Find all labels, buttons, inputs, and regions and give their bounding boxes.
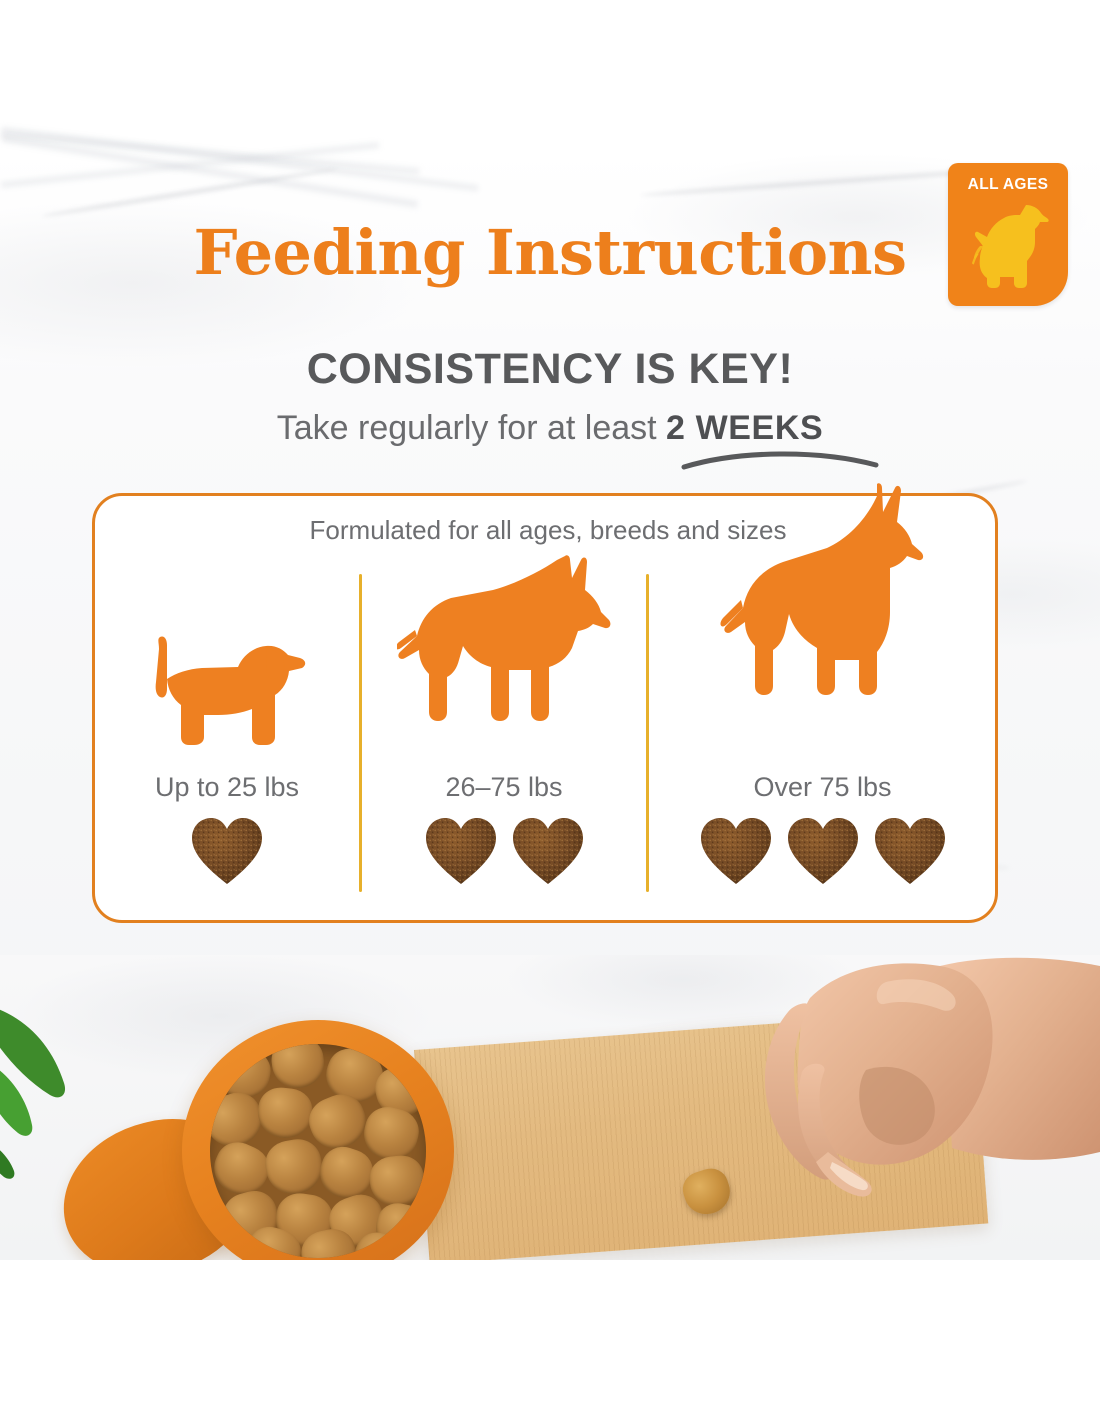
subtitle: CONSISTENCY IS KEY! (0, 348, 1100, 391)
medium-dog-icon (397, 552, 612, 730)
tagline-highlight: 2 WEEKS (666, 409, 823, 447)
column-divider (646, 574, 649, 892)
kibble-treat-icon (190, 814, 264, 886)
weight-label-medium: 26–75 lbs (363, 774, 645, 801)
treat-row-small (95, 814, 359, 886)
weight-column-large: Over 75 lbs (650, 552, 995, 912)
feeding-chart-card: Formulated for all ages, breeds and size… (92, 493, 998, 923)
weight-label-small: Up to 25 lbs (95, 774, 359, 801)
all-ages-badge: ALL AGES (948, 163, 1068, 306)
kibble-treat-icon (786, 814, 860, 886)
photo-bottom-mask (0, 1260, 1100, 1422)
weight-label-large: Over 75 lbs (650, 774, 995, 801)
all-ages-badge-label: ALL AGES (948, 176, 1068, 194)
kibble-treat-icon (699, 814, 773, 886)
tagline: Take regularly for at least 2 WEEKS (0, 411, 1100, 445)
small-dog-icon (142, 627, 312, 762)
large-dog-icon (717, 482, 929, 700)
page-title: Feeding Instructions (0, 222, 1100, 284)
small-dog-holder (95, 562, 359, 762)
infographic-stage: Feeding Instructions ALL AGES CONSISTENC… (0, 0, 1100, 1422)
container-opening (210, 1044, 426, 1258)
hand-holding-treat-icon (690, 952, 1100, 1252)
kibble-treat-icon (424, 814, 498, 886)
sitting-dog-icon (972, 199, 1050, 299)
treat-row-medium (363, 814, 645, 886)
treat-container (182, 1020, 454, 1282)
kibble-treat-icon (511, 814, 585, 886)
weight-column-medium: 26–75 lbs (363, 552, 645, 912)
underline-swoosh-icon (680, 446, 880, 472)
medium-dog-holder (363, 530, 645, 730)
kibble-treat-icon (873, 814, 947, 886)
tagline-prefix: Take regularly for at least (277, 409, 666, 447)
weight-column-small: Up to 25 lbs (95, 552, 359, 912)
column-divider (359, 574, 362, 892)
large-dog-holder (650, 500, 995, 700)
treat-row-large (650, 814, 995, 886)
